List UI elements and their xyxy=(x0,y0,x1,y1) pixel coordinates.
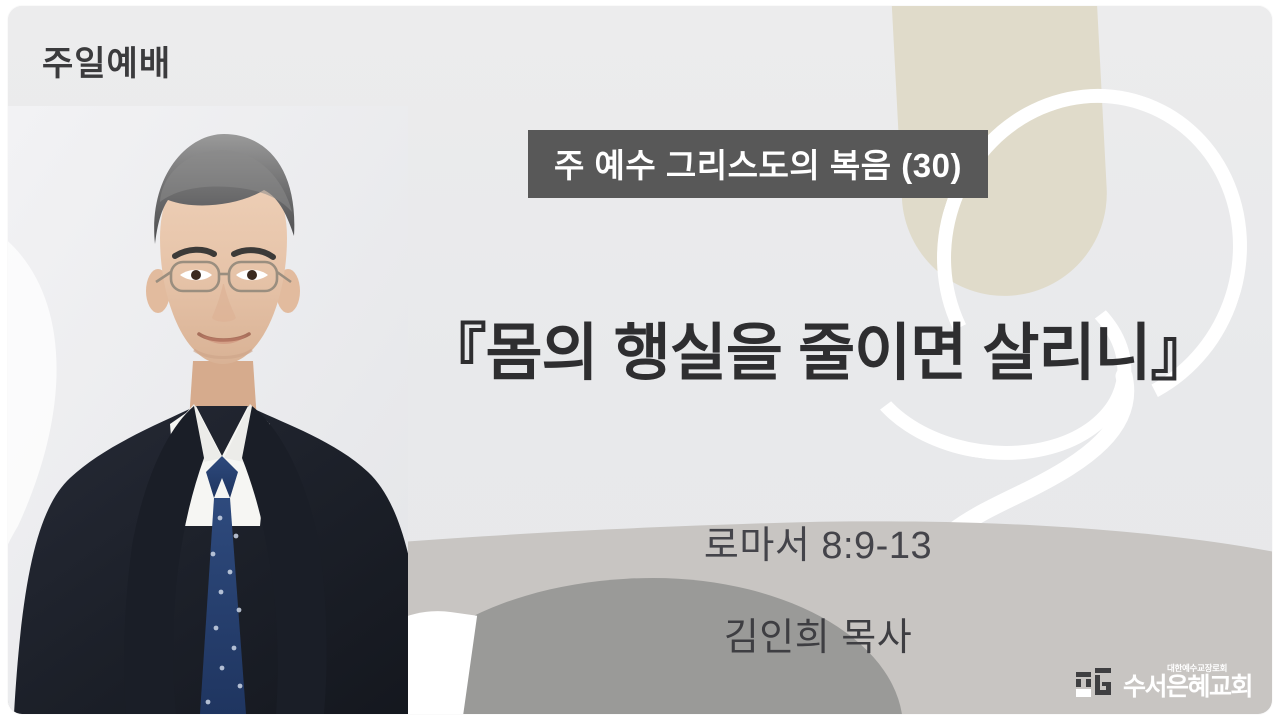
denomination-label: 대한예수교장로회 xyxy=(1167,664,1227,673)
slide-frame: 주일예배 주 예수 그리스도의 복음 (30) 『몸의 행실을 줄이면 살리니』… xyxy=(8,6,1272,714)
sermon-series-banner: 주 예수 그리스도의 복음 (30) xyxy=(528,130,988,198)
speaker-name: 김인희 목사 xyxy=(398,606,1238,661)
sg-monogram-icon xyxy=(1076,666,1116,700)
church-logo-text: 대한예수교장로회 수서은혜교회 xyxy=(1123,664,1252,700)
church-logo: 대한예수교장로회 수서은혜교회 xyxy=(1076,664,1252,700)
service-type-label: 주일예배 xyxy=(42,36,171,85)
pastor-portrait-photo xyxy=(8,106,408,714)
scripture-reference: 로마서 8:9-13 xyxy=(398,514,1238,569)
sermon-slide: 주일예배 주 예수 그리스도의 복음 (30) 『몸의 행실을 줄이면 살리니』… xyxy=(0,0,1280,720)
sermon-title: 『몸의 행실을 줄이면 살리니』 xyxy=(398,302,1238,392)
church-name-label: 수서은혜교회 xyxy=(1123,675,1252,700)
